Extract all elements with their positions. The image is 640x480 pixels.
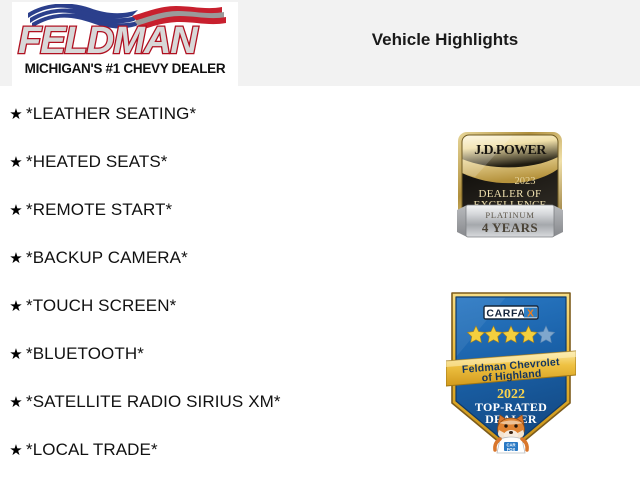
star-bullet-icon: ★ [6,107,26,122]
list-item: ★ *LOCAL TRADE* [0,426,440,474]
vehicle-highlights-list: ★ *LEATHER SEATING* ★ *HEATED SEATS* ★ *… [0,90,440,474]
car-fox-mascot-icon: CAR FOX [495,415,527,453]
list-item-label: *LOCAL TRADE* [26,440,158,460]
jd-power-ribbon-line-1: PLATINUM [485,210,534,220]
feldman-wordmark-text: FELDMAN [18,20,199,62]
feldman-tagline: MICHIGAN'S #1 CHEVY DEALER [12,61,238,76]
jd-power-year: 2023 [515,176,536,187]
list-item-label: *TOUCH SCREEN* [26,296,176,316]
carfax-logo-text: CARFA [486,308,525,320]
star-bullet-icon: ★ [6,251,26,266]
star-bullet-icon: ★ [6,443,26,458]
carfax-badge-graphic: CARFA X Feldman Chevrolet of Highland 20… [446,287,576,455]
list-item: ★ *HEATED SEATS* [0,138,440,186]
list-item-label: *LEATHER SEATING* [26,104,196,124]
page-title: Vehicle Highlights [280,30,610,50]
list-item: ★ *TOUCH SCREEN* [0,282,440,330]
star-bullet-icon: ★ [6,347,26,362]
star-bullet-icon: ★ [6,203,26,218]
feldman-wordmark: FELDMAN [12,18,238,62]
carfax-logo-x: X [527,308,534,320]
jd-power-badge-graphic: J.D.POWER 2023 DEALER OF EXCELLENCE PLAT… [455,127,565,245]
star-bullet-icon: ★ [6,155,26,170]
list-item-label: *BLUETOOTH* [26,344,144,364]
list-item: ★ *LEATHER SEATING* [0,90,440,138]
feldman-logo[interactable]: FELDMAN MICHIGAN'S #1 CHEVY DEALER [12,2,238,86]
carfax-top-rated-dealer-badge[interactable]: CARFA X Feldman Chevrolet of Highland 20… [446,287,576,455]
list-item: ★ *BACKUP CAMERA* [0,234,440,282]
list-item: ★ *REMOTE START* [0,186,440,234]
jd-power-ribbon-line-2: 4 YEARS [482,220,538,235]
list-item: ★ *BLUETOOTH* [0,330,440,378]
list-item-label: *REMOTE START* [26,200,172,220]
star-bullet-icon: ★ [6,395,26,410]
jd-power-brand-text: J.D.POWER [474,143,547,158]
list-item-label: *HEATED SEATS* [26,152,168,172]
car-fox-shirt-line-2: FOX [507,447,516,452]
list-item-label: *SATELLITE RADIO SIRIUS XM* [26,392,281,412]
star-bullet-icon: ★ [6,299,26,314]
list-item: ★ *SATELLITE RADIO SIRIUS XM* [0,378,440,426]
list-item-label: *BACKUP CAMERA* [26,248,188,268]
page-header: FELDMAN MICHIGAN'S #1 CHEVY DEALER Vehic… [0,0,640,86]
jd-power-dealer-of-excellence-badge[interactable]: J.D.POWER 2023 DEALER OF EXCELLENCE PLAT… [455,127,565,245]
